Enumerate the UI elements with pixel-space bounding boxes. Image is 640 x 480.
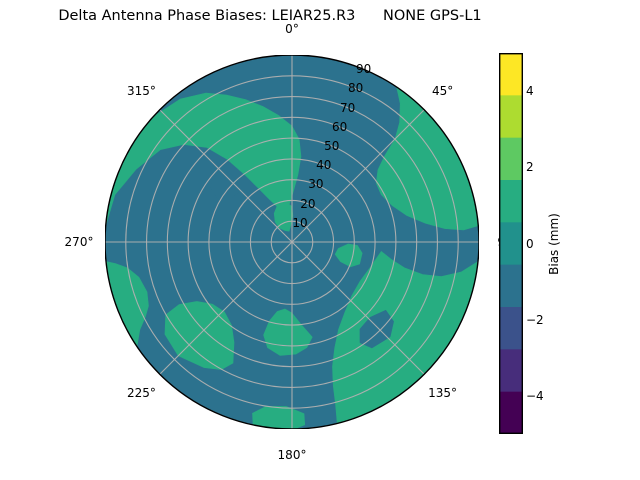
colorbar-axis-label-text: Bias (mm) <box>547 213 561 275</box>
radial-tick-label-10: 10 <box>292 216 307 230</box>
theta-tick-label-135: 135° <box>428 386 457 400</box>
theta-tick-label-180: 180° <box>278 448 307 462</box>
radial-tick-label-60: 60 <box>332 120 347 134</box>
colorbar-svg <box>499 53 523 434</box>
colorbar[interactable] <box>499 53 523 434</box>
colorbar-tick--4: −4 <box>526 389 544 403</box>
figure-title: Delta Antenna Phase Biases: LEIAR25.R3 N… <box>0 8 540 24</box>
figure-canvas: Delta Antenna Phase Biases: LEIAR25.R3 N… <box>0 0 640 480</box>
theta-tick-label-225: 225° <box>127 386 156 400</box>
colorbar-tick--2: −2 <box>526 313 544 327</box>
colorbar-tick-0: 0 <box>526 237 534 251</box>
radial-tick-label-80: 80 <box>348 81 363 95</box>
colorbar-tick-2: 2 <box>526 160 534 174</box>
radial-tick-label-30: 30 <box>308 177 323 191</box>
polar-axes[interactable] <box>105 55 479 429</box>
radial-tick-label-90: 90 <box>356 62 371 76</box>
colorbar-tick-4: 4 <box>526 84 534 98</box>
polar-plot-svg <box>105 55 479 429</box>
colorbar-axis-label: Bias (mm) <box>545 53 563 434</box>
theta-tick-label-0: 0° <box>285 22 299 36</box>
radial-tick-label-70: 70 <box>340 101 355 115</box>
theta-tick-label-315: 315° <box>127 84 156 98</box>
radial-tick-label-20: 20 <box>300 197 315 211</box>
radial-tick-label-40: 40 <box>316 158 331 172</box>
radial-tick-label-50: 50 <box>324 139 339 153</box>
theta-tick-label-270: 270° <box>65 235 94 249</box>
theta-tick-label-45: 45° <box>432 84 453 98</box>
